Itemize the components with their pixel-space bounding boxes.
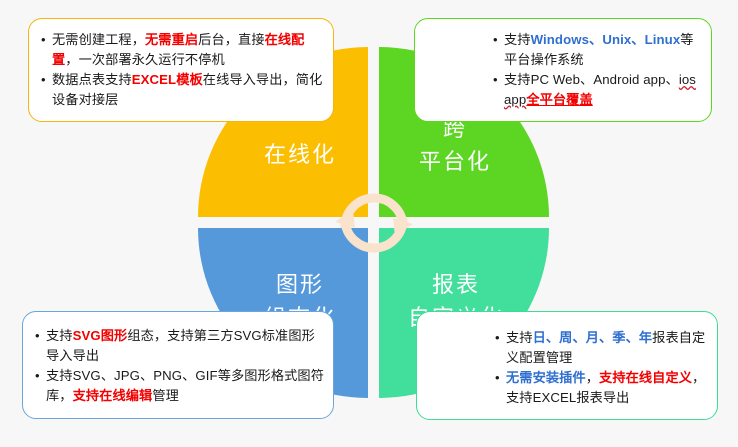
- text-run: 支持在线自定义: [599, 370, 692, 385]
- callout-bottom-right: 支持日、周、月、季、年报表自定义配置管理 无需安装插件，支持在线自定义，支持EX…: [416, 311, 718, 420]
- text-run: 管理: [152, 388, 179, 403]
- text-run: 无需创建工程，: [52, 32, 145, 47]
- list-item: 无需创建工程，无需重启后台，直接在线配置，一次部署永久运行不停机: [41, 30, 325, 69]
- callout-top-left-list: 无需创建工程，无需重启后台，直接在线配置，一次部署永久运行不停机 数据点表支持E…: [41, 30, 325, 109]
- text-run: 支持在线编辑: [73, 388, 153, 403]
- callout-bottom-right-list: 支持日、周、月、季、年报表自定义配置管理 无需安装插件，支持在线自定义，支持EX…: [495, 328, 709, 407]
- list-item: 支持SVG图形组态，支持第三方SVG标准图形导入导出: [35, 326, 325, 365]
- text-run: 无需安装插件: [506, 370, 586, 385]
- text-run: 后台，直接: [198, 32, 264, 47]
- text-run: 支持: [506, 330, 533, 345]
- quadrant-online-label: 在线化: [264, 138, 336, 171]
- text-run: ，: [586, 370, 599, 385]
- text-run: 支持PC Web、Android app、: [504, 72, 679, 87]
- quadrant-report-label-1: 报表: [432, 268, 480, 301]
- list-item: 支持PC Web、Android app、ios app全平台覆盖: [493, 70, 703, 109]
- list-item: 支持日、周、月、季、年报表自定义配置管理: [495, 328, 709, 367]
- callout-bottom-left: 支持SVG图形组态，支持第三方SVG标准图形导入导出 支持SVG、JPG、PNG…: [22, 311, 334, 419]
- text-run: 全平台覆盖: [526, 92, 592, 107]
- text-run: EXCEL模板: [132, 72, 203, 87]
- quadrant-graphics-label-1: 图形: [276, 268, 324, 301]
- callout-top-left: 无需创建工程，无需重启后台，直接在线配置，一次部署永久运行不停机 数据点表支持E…: [28, 18, 334, 122]
- quadrant-cross-platform-label-2: 平台化: [419, 145, 491, 178]
- text-run: 支持: [504, 32, 531, 47]
- text-run: ，一次部署永久运行不停机: [65, 52, 224, 67]
- text-run: Windows、Unix、Linux: [531, 32, 681, 47]
- list-item: 支持SVG、JPG、PNG、GIF等多图形格式图符库，支持在线编辑管理: [35, 366, 325, 405]
- text-run: 日、周、月、季、年: [533, 330, 653, 345]
- list-item: 数据点表支持EXCEL模板在线导入导出，简化设备对接层: [41, 70, 325, 109]
- text-run: 无需重启: [145, 32, 198, 47]
- text-run: 支持: [46, 328, 73, 343]
- text-run: 数据点表支持: [52, 72, 132, 87]
- list-item: 无需安装插件，支持在线自定义，支持EXCEL报表导出: [495, 368, 709, 407]
- callout-bottom-left-list: 支持SVG图形组态，支持第三方SVG标准图形导入导出 支持SVG、JPG、PNG…: [35, 326, 325, 405]
- callout-top-right-list: 支持Windows、Unix、Linux等平台操作系统 支持PC Web、And…: [493, 30, 703, 109]
- list-item: 支持Windows、Unix、Linux等平台操作系统: [493, 30, 703, 69]
- text-run: SVG图形: [73, 328, 128, 343]
- callout-top-right: 支持Windows、Unix、Linux等平台操作系统 支持PC Web、And…: [414, 18, 712, 122]
